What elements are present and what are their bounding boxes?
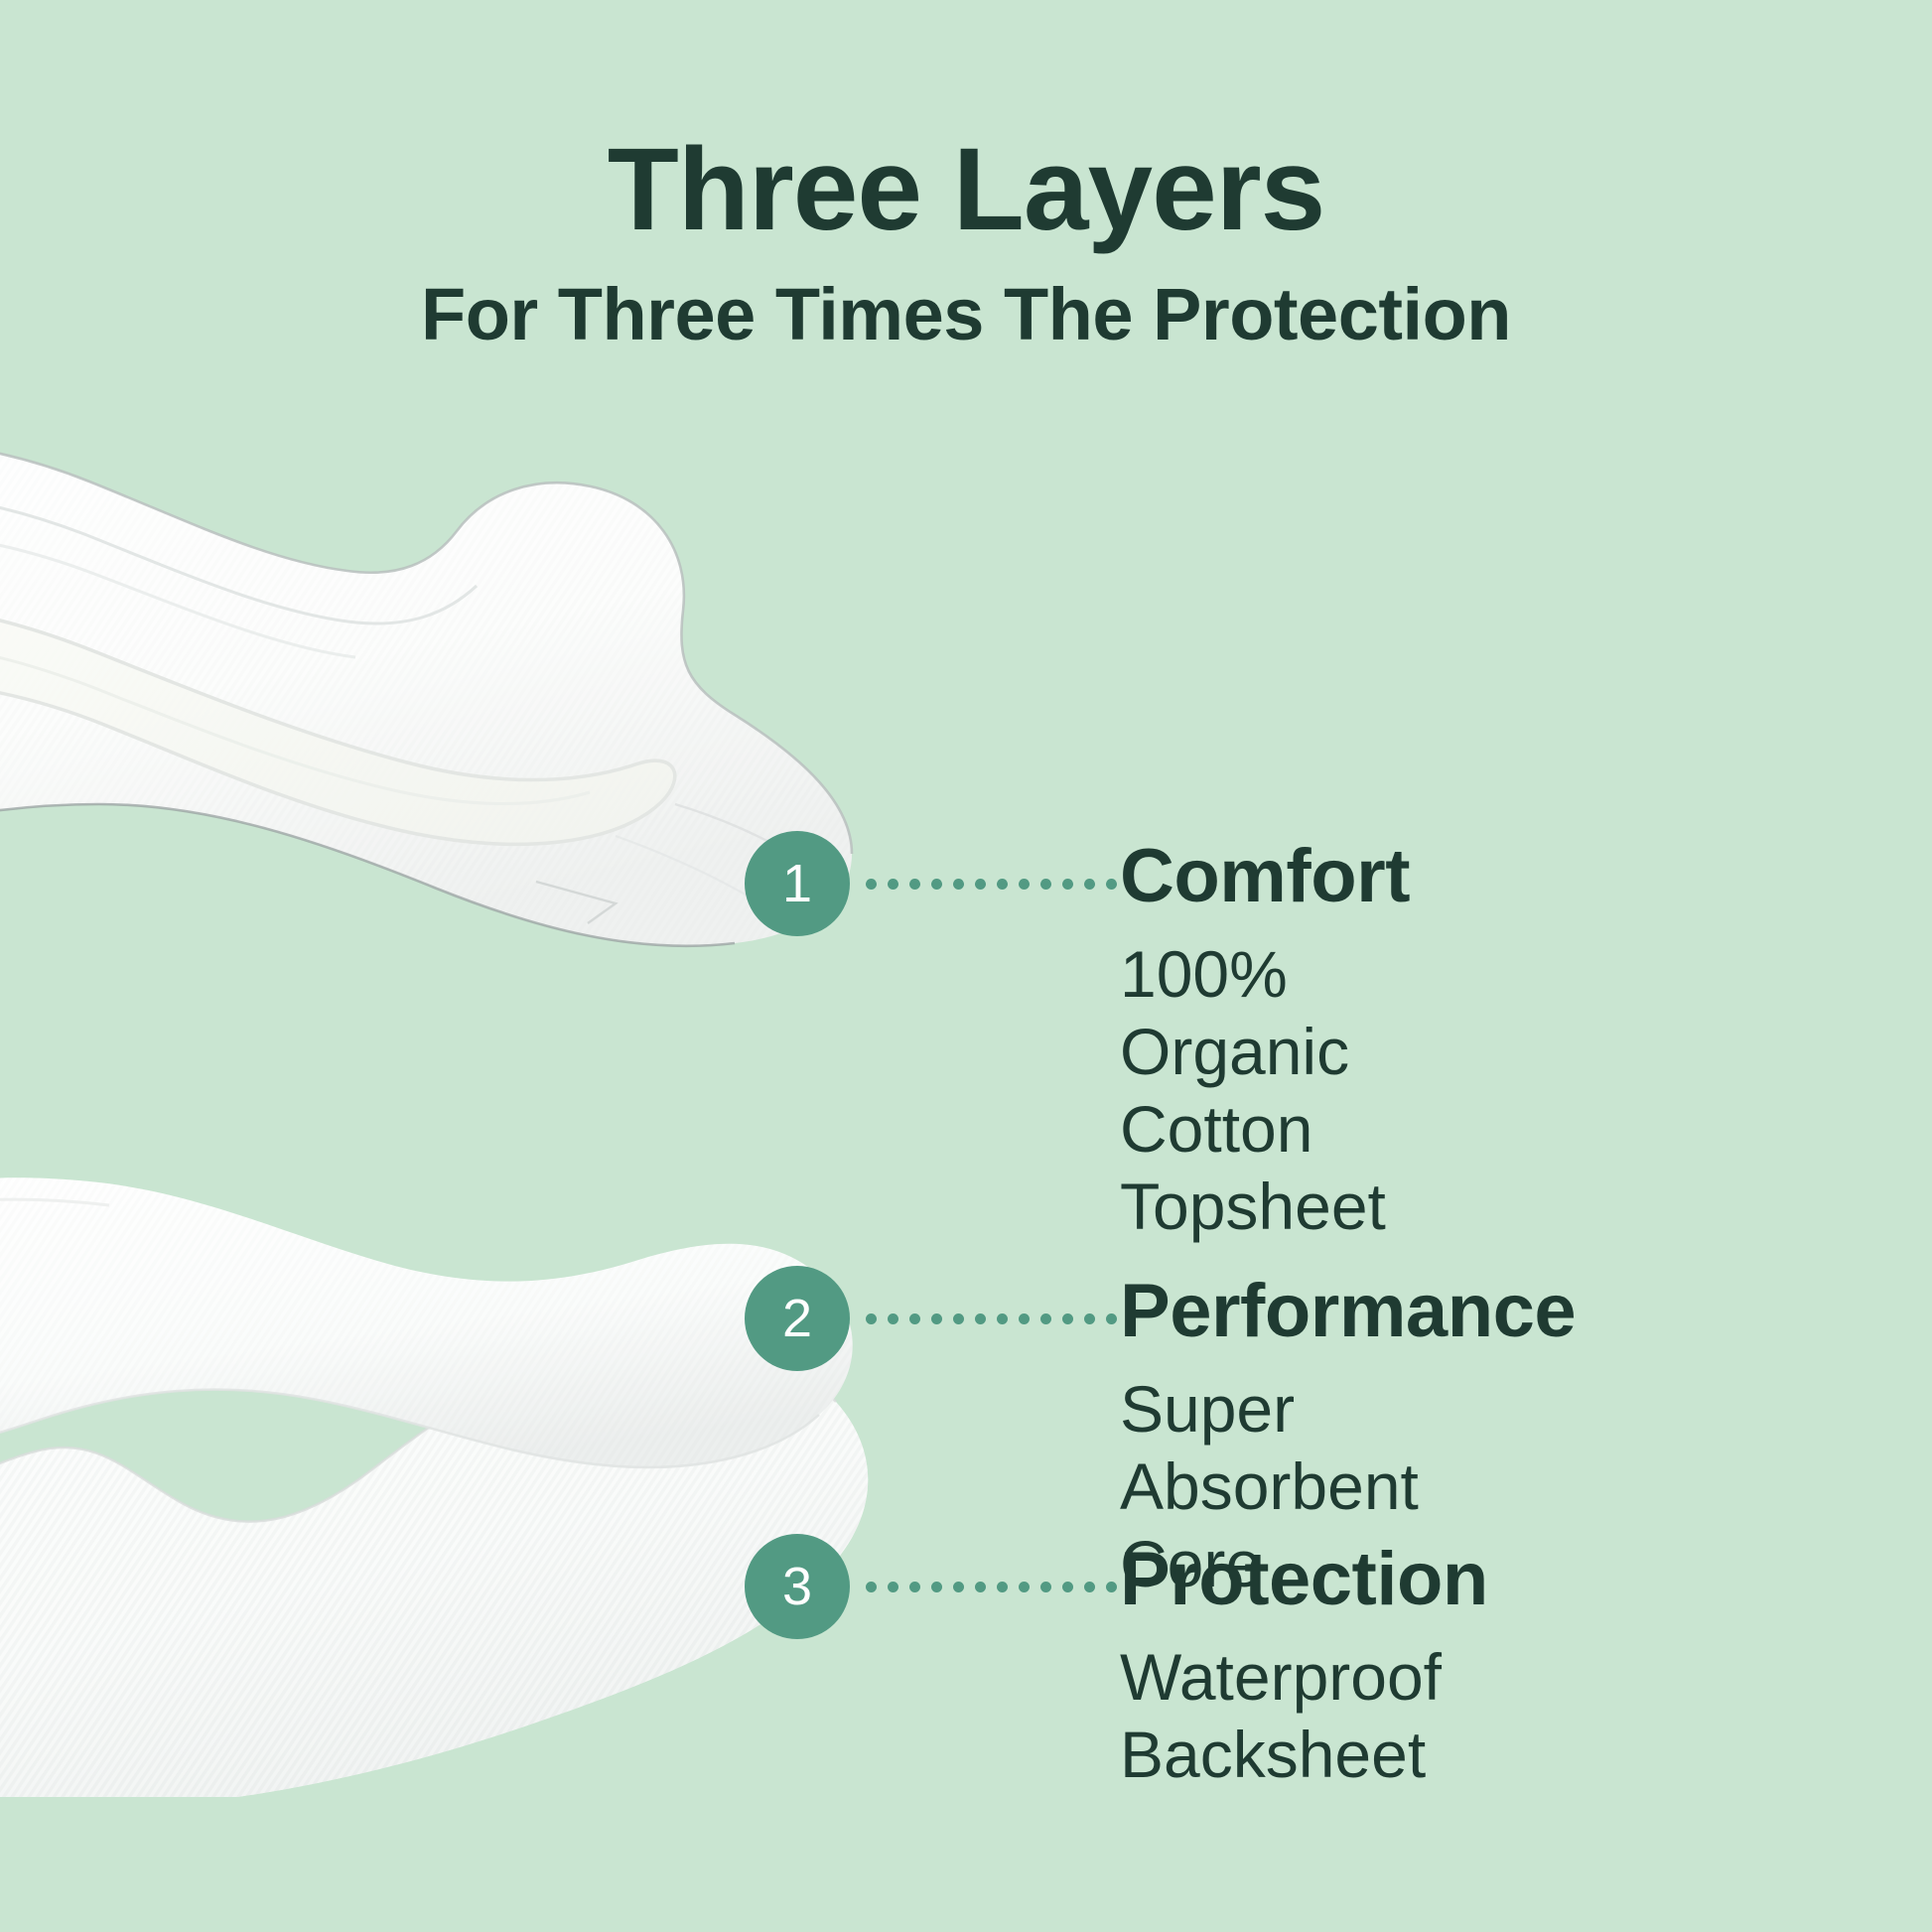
topsheet-layer (0, 440, 852, 945)
header-block: Three Layers For Three Times The Protect… (0, 0, 1932, 351)
absorbent-core-layer (0, 1177, 853, 1467)
connector-dots-1 (866, 878, 1117, 890)
connector-dots-2 (866, 1312, 1117, 1324)
callout-text-1: Comfort 100% Organic Cotton Topsheet (1120, 839, 1410, 1246)
badge-number-1: 1 (745, 831, 850, 936)
page-title: Three Layers (0, 0, 1932, 248)
badge-number-2: 2 (745, 1266, 850, 1371)
badge-number-3: 3 (745, 1534, 850, 1639)
connector-dots-3 (866, 1581, 1117, 1592)
callout-desc-protection: Waterproof Backsheet (1120, 1617, 1488, 1794)
three-layers-infographic: Three Layers For Three Times The Protect… (0, 0, 1932, 1932)
callout-desc-comfort: 100% Organic Cotton Topsheet (1120, 914, 1410, 1246)
page-subtitle: For Three Times The Protection (0, 248, 1932, 351)
callout-text-3: Protection Waterproof Backsheet (1120, 1542, 1488, 1794)
callout-title-protection: Protection (1120, 1542, 1488, 1617)
callout-title-performance: Performance (1120, 1274, 1576, 1349)
callout-title-comfort: Comfort (1120, 839, 1410, 914)
